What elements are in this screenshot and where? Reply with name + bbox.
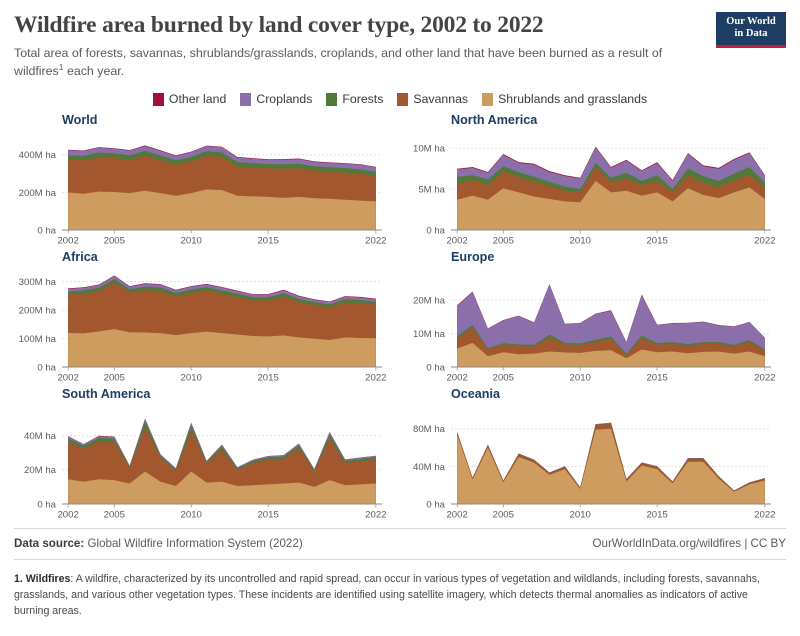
x-axis-tick-label: 2005 bbox=[104, 373, 125, 384]
x-axis-tick-label: 2010 bbox=[570, 373, 591, 384]
chart-panel-world[interactable]: World0 ha200M ha400M ha20022005201020152… bbox=[14, 114, 397, 251]
y-axis-tick-label: 200M ha bbox=[19, 188, 57, 199]
x-axis-tick-label: 2002 bbox=[446, 373, 467, 384]
legend-item-label: Croplands bbox=[256, 92, 312, 106]
legend-item-label: Forests bbox=[342, 92, 383, 106]
page-subtitle: Total area of forests, savannas, shrubla… bbox=[14, 45, 694, 80]
legend-item[interactable]: Shrublands and grasslands bbox=[482, 92, 647, 106]
attribution-link[interactable]: OurWorldInData.org/wildfires | CC BY bbox=[592, 537, 786, 550]
x-axis-tick-label: 2022 bbox=[754, 236, 775, 247]
y-axis-tick-label: 10M ha bbox=[413, 144, 446, 155]
owid-logo-line2: in Data bbox=[716, 28, 786, 40]
chart-panel-europe[interactable]: Europe0 ha10M ha20M ha200220052010201520… bbox=[403, 251, 786, 388]
y-axis-tick-label: 0 ha bbox=[426, 500, 445, 511]
footnote-text: : A wildfire, characterized by its uncon… bbox=[14, 573, 760, 617]
y-axis-tick-label: 200M ha bbox=[19, 306, 57, 317]
legend-swatch-icon bbox=[326, 93, 337, 106]
y-axis-tick-label: 100M ha bbox=[19, 334, 57, 345]
chart-header: Wildfire area burned by land cover type,… bbox=[14, 0, 786, 80]
panel-title: North America bbox=[451, 114, 786, 128]
x-axis-tick-label: 2002 bbox=[57, 373, 78, 384]
x-axis-tick-label: 2015 bbox=[257, 236, 278, 247]
stacked-area-plot: 0 ha10M ha20M ha20022005201020152022 bbox=[403, 267, 783, 385]
data-source-value: Global Wildfire Information System (2022… bbox=[87, 537, 302, 550]
legend-item-label: Other land bbox=[169, 92, 226, 106]
y-axis-tick-label: 40M ha bbox=[24, 431, 57, 442]
y-axis-tick-label: 10M ha bbox=[413, 329, 446, 340]
legend-item-label: Shrublands and grasslands bbox=[498, 92, 647, 106]
legend-item[interactable]: Savannas bbox=[397, 92, 468, 106]
footer-meta-row: Data source: Global Wildfire Information… bbox=[14, 529, 786, 550]
panel-title: Africa bbox=[62, 251, 397, 265]
y-axis-tick-label: 0 ha bbox=[37, 500, 56, 511]
legend-item-label: Savannas bbox=[413, 92, 468, 106]
x-axis-tick-label: 2022 bbox=[365, 510, 386, 521]
panel-title: World bbox=[62, 114, 397, 128]
stacked-area-plot: 0 ha20M ha40M ha20022005201020152022 bbox=[14, 404, 394, 522]
stacked-area-plot: 0 ha100M ha200M ha300M ha200220052010201… bbox=[14, 267, 394, 385]
x-axis-tick-label: 2002 bbox=[57, 510, 78, 521]
chart-panel-south-america[interactable]: South America0 ha20M ha40M ha20022005201… bbox=[14, 388, 397, 525]
page-title: Wildfire area burned by land cover type,… bbox=[14, 12, 786, 39]
owid-logo[interactable]: Our World in Data bbox=[716, 12, 786, 48]
x-axis-tick-label: 2015 bbox=[646, 510, 667, 521]
legend-swatch-icon bbox=[240, 93, 251, 106]
x-axis-tick-label: 2002 bbox=[446, 510, 467, 521]
panel-title: Europe bbox=[451, 251, 786, 265]
footnote-label: 1. Wildfires bbox=[14, 573, 70, 585]
x-axis-tick-label: 2002 bbox=[446, 236, 467, 247]
y-axis-tick-label: 20M ha bbox=[413, 295, 446, 306]
x-axis-tick-label: 2002 bbox=[57, 236, 78, 247]
x-axis-tick-label: 2005 bbox=[104, 236, 125, 247]
y-axis-tick-label: 80M ha bbox=[413, 424, 446, 435]
legend-swatch-icon bbox=[153, 93, 164, 106]
y-axis-tick-label: 40M ha bbox=[413, 462, 446, 473]
legend-item[interactable]: Croplands bbox=[240, 92, 312, 106]
x-axis-tick-label: 2015 bbox=[646, 373, 667, 384]
owid-chart-page: Wildfire area burned by land cover type,… bbox=[0, 0, 800, 636]
panel-title: South America bbox=[62, 388, 397, 402]
footnote: 1. Wildfires: A wildfire, characterized … bbox=[14, 572, 786, 620]
x-axis-tick-label: 2022 bbox=[754, 373, 775, 384]
x-axis-tick-label: 2005 bbox=[493, 236, 514, 247]
chart-panel-grid: World0 ha200M ha400M ha20022005201020152… bbox=[14, 114, 786, 525]
chart-legend: Other landCroplandsForestsSavannasShrubl… bbox=[14, 92, 786, 106]
x-axis-tick-label: 2015 bbox=[257, 373, 278, 384]
chart-panel-africa[interactable]: Africa0 ha100M ha200M ha300M ha200220052… bbox=[14, 251, 397, 388]
chart-footer: Data source: Global Wildfire Information… bbox=[14, 528, 786, 620]
y-axis-tick-label: 400M ha bbox=[19, 150, 57, 161]
x-axis-tick-label: 2005 bbox=[104, 510, 125, 521]
legend-swatch-icon bbox=[482, 93, 493, 106]
stacked-area-plot: 0 ha200M ha400M ha20022005201020152022 bbox=[14, 130, 394, 248]
x-axis-tick-label: 2010 bbox=[181, 510, 202, 521]
x-axis-tick-label: 2022 bbox=[365, 236, 386, 247]
legend-swatch-icon bbox=[397, 93, 408, 106]
y-axis-tick-label: 5M ha bbox=[418, 185, 445, 196]
footer-divider-bottom bbox=[14, 559, 786, 560]
x-axis-tick-label: 2022 bbox=[754, 510, 775, 521]
chart-panel-oceania[interactable]: Oceania0 ha40M ha80M ha20022005201020152… bbox=[403, 388, 786, 525]
y-axis-tick-label: 0 ha bbox=[426, 226, 445, 237]
y-axis-tick-label: 300M ha bbox=[19, 277, 57, 288]
stacked-area-plot: 0 ha5M ha10M ha20022005201020152022 bbox=[403, 130, 783, 248]
x-axis-tick-label: 2005 bbox=[493, 510, 514, 521]
data-source: Data source: Global Wildfire Information… bbox=[14, 537, 303, 550]
x-axis-tick-label: 2015 bbox=[257, 510, 278, 521]
x-axis-tick-label: 2010 bbox=[181, 373, 202, 384]
data-source-label: Data source: bbox=[14, 537, 84, 550]
x-axis-tick-label: 2010 bbox=[181, 236, 202, 247]
x-axis-tick-label: 2010 bbox=[570, 510, 591, 521]
x-axis-tick-label: 2022 bbox=[365, 373, 386, 384]
y-axis-tick-label: 20M ha bbox=[24, 465, 57, 476]
x-axis-tick-label: 2015 bbox=[646, 236, 667, 247]
legend-item[interactable]: Other land bbox=[153, 92, 226, 106]
y-axis-tick-label: 0 ha bbox=[426, 363, 445, 374]
y-axis-tick-label: 0 ha bbox=[37, 226, 56, 237]
stacked-area-plot: 0 ha40M ha80M ha20022005201020152022 bbox=[403, 404, 783, 522]
owid-logo-line1: Our World bbox=[716, 16, 786, 28]
legend-item[interactable]: Forests bbox=[326, 92, 383, 106]
y-axis-tick-label: 0 ha bbox=[37, 363, 56, 374]
chart-panel-north-america[interactable]: North America0 ha5M ha10M ha200220052010… bbox=[403, 114, 786, 251]
x-axis-tick-label: 2005 bbox=[493, 373, 514, 384]
x-axis-tick-label: 2010 bbox=[570, 236, 591, 247]
subtitle-text-tail: each year. bbox=[64, 64, 125, 78]
panel-title: Oceania bbox=[451, 388, 786, 402]
